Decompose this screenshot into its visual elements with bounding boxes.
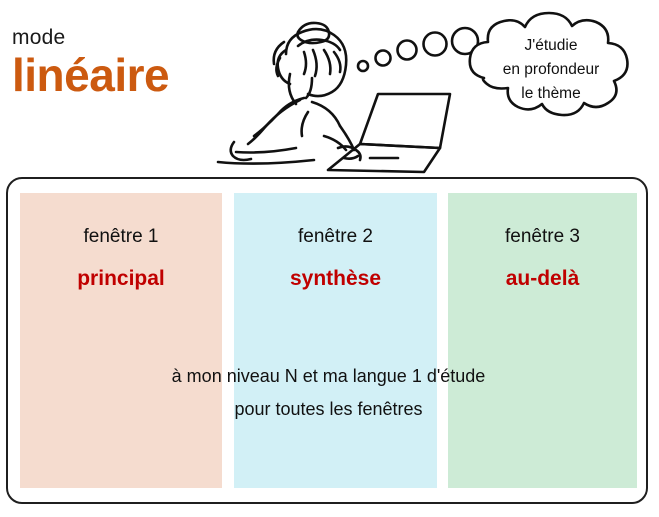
- window-columns: fenêtre 1 principal fenêtre 2 synthèse f…: [20, 193, 637, 488]
- page-title: linéaire: [12, 51, 242, 99]
- thought-bubble-line-1: J'étudie: [468, 34, 634, 58]
- column-3-subtitle: au-delà: [448, 267, 637, 291]
- slide-canvas: mode linéaire: [0, 0, 659, 517]
- column-1-subtitle: principal: [20, 267, 222, 291]
- column-2-heading: fenêtre 2: [234, 226, 437, 248]
- column-1-heading: fenêtre 1: [20, 226, 222, 248]
- column-fenetre-3[interactable]: fenêtre 3 au-delà: [448, 193, 637, 488]
- column-fenetre-2[interactable]: fenêtre 2 synthèse: [234, 193, 437, 488]
- header-block: mode linéaire: [12, 26, 242, 99]
- mode-kicker: mode: [12, 26, 242, 49]
- thought-bubble-line-3: le thème: [468, 82, 634, 106]
- thought-bubble-line-2: en profondeur: [468, 58, 634, 82]
- column-2-subtitle: synthèse: [234, 267, 437, 291]
- column-3-heading: fenêtre 3: [448, 226, 637, 248]
- thought-bubble-text: J'étudie en profondeur le thème: [468, 34, 634, 106]
- column-fenetre-1[interactable]: fenêtre 1 principal: [20, 193, 222, 488]
